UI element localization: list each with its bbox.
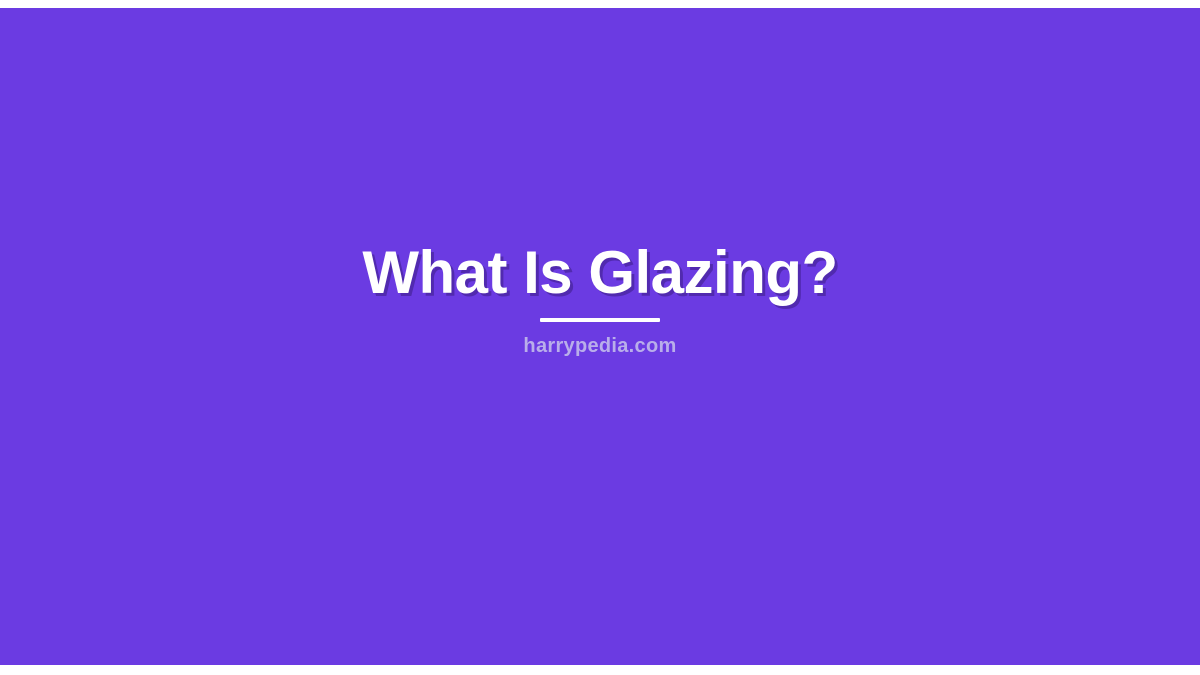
page-canvas: What Is Glazing? harrypedia.com (0, 0, 1200, 675)
page-title: What Is Glazing? (362, 241, 837, 305)
site-attribution: harrypedia.com (523, 334, 676, 358)
title-card: What Is Glazing? harrypedia.com (0, 8, 1200, 665)
hero-block: What Is Glazing? harrypedia.com (0, 8, 1200, 665)
title-divider (540, 318, 660, 322)
